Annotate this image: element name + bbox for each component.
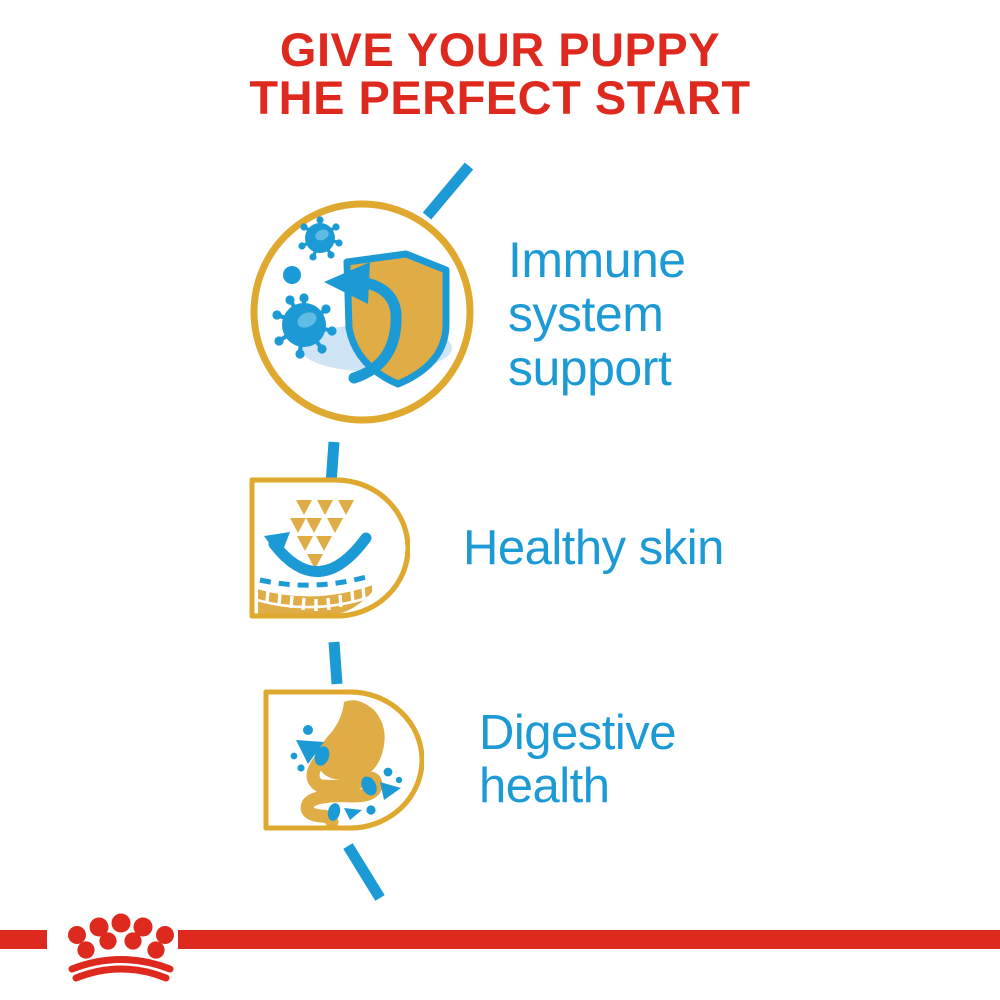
footer xyxy=(0,892,1000,1000)
feature-label-immune: Immune system support xyxy=(508,233,686,395)
feature-label-digestive: Digestive health xyxy=(479,707,676,813)
feature-row-immune: Immune system support xyxy=(246,196,686,428)
digestive-health-icon xyxy=(258,684,424,836)
title-line-1: GIVE YOUR PUPPY xyxy=(0,26,1000,74)
footer-bar-left xyxy=(0,930,47,949)
feature-row-skin: Healthy skin xyxy=(244,472,724,624)
feature-row-digestive: Digestive health xyxy=(258,684,676,836)
feature-label-skin: Healthy skin xyxy=(463,522,724,575)
healthy-skin-icon xyxy=(244,472,410,624)
connector-mid-2 xyxy=(320,640,350,686)
footer-bar-right xyxy=(178,930,1000,949)
germ-dot xyxy=(283,266,301,284)
immune-shield-icon xyxy=(246,196,478,428)
royal-canin-crown-logo xyxy=(68,914,174,979)
title-line-2: THE PERFECT START xyxy=(0,74,1000,122)
infographic-page: GIVE YOUR PUPPY THE PERFECT START xyxy=(0,0,1000,1000)
page-title: GIVE YOUR PUPPY THE PERFECT START xyxy=(0,26,1000,122)
